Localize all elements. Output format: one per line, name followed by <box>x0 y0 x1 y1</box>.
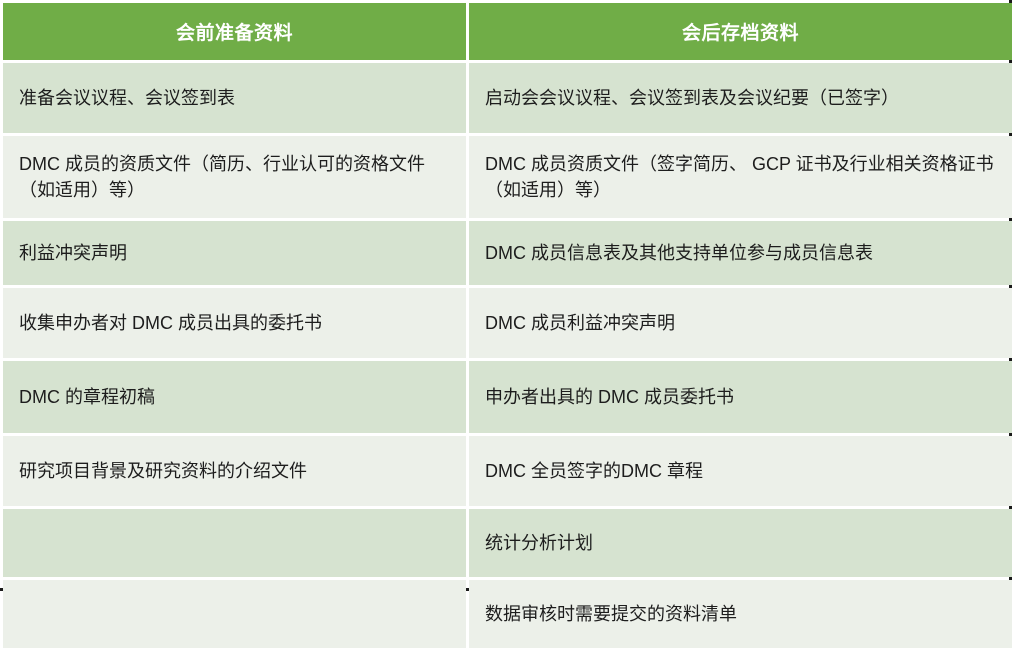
column-header-pre-meeting: 会前准备资料 <box>3 3 466 60</box>
cell-pre-meeting: 收集申办者对 DMC 成员出具的委托书 <box>3 288 466 358</box>
table-row: 统计分析计划 <box>3 509 1012 577</box>
cell-pre-meeting: DMC 成员的资质文件（简历、行业认可的资格文件（如适用）等） <box>3 136 466 218</box>
cell-post-meeting: 启动会会议议程、会议签到表及会议纪要（已签字） <box>469 63 1012 133</box>
preparation-archive-table: 会前准备资料 会后存档资料 准备会议议程、会议签到表 启动会会议议程、会议签到表… <box>0 0 1012 651</box>
cell-post-meeting: DMC 成员信息表及其他支持单位参与成员信息表 <box>469 221 1012 285</box>
cell-pre-meeting <box>3 509 466 577</box>
table-row: 准备会议议程、会议签到表 启动会会议议程、会议签到表及会议纪要（已签字） <box>3 63 1012 133</box>
cell-pre-meeting: 利益冲突声明 <box>3 221 466 285</box>
cell-post-meeting: 申办者出具的 DMC 成员委托书 <box>469 361 1012 433</box>
cell-pre-meeting <box>3 580 466 648</box>
table-body: 准备会议议程、会议签到表 启动会会议议程、会议签到表及会议纪要（已签字） DMC… <box>3 63 1012 648</box>
column-header-post-meeting: 会后存档资料 <box>469 3 1012 60</box>
table-row: 研究项目背景及研究资料的介绍文件 DMC 全员签字的DMC 章程 <box>3 436 1012 506</box>
table-row: DMC 成员的资质文件（简历、行业认可的资格文件（如适用）等） DMC 成员资质… <box>3 136 1012 218</box>
cell-post-meeting: 统计分析计划 <box>469 509 1012 577</box>
cell-pre-meeting: 研究项目背景及研究资料的介绍文件 <box>3 436 466 506</box>
table-row: 数据审核时需要提交的资料清单 <box>3 580 1012 648</box>
table-row: 利益冲突声明 DMC 成员信息表及其他支持单位参与成员信息表 <box>3 221 1012 285</box>
cell-post-meeting: 数据审核时需要提交的资料清单 <box>469 580 1012 648</box>
table-row: 收集申办者对 DMC 成员出具的委托书 DMC 成员利益冲突声明 <box>3 288 1012 358</box>
cell-post-meeting: DMC 成员利益冲突声明 <box>469 288 1012 358</box>
cell-pre-meeting: 准备会议议程、会议签到表 <box>3 63 466 133</box>
cell-pre-meeting: DMC 的章程初稿 <box>3 361 466 433</box>
cell-post-meeting: DMC 成员资质文件（签字简历、 GCP 证书及行业相关资格证书（如适用）等） <box>469 136 1012 218</box>
table-header-row: 会前准备资料 会后存档资料 <box>3 3 1012 60</box>
cell-post-meeting: DMC 全员签字的DMC 章程 <box>469 436 1012 506</box>
document-table-container: 会前准备资料 会后存档资料 准备会议议程、会议签到表 启动会会议议程、会议签到表… <box>0 0 1012 591</box>
table-header: 会前准备资料 会后存档资料 <box>3 3 1012 60</box>
table-row: DMC 的章程初稿 申办者出具的 DMC 成员委托书 <box>3 361 1012 433</box>
